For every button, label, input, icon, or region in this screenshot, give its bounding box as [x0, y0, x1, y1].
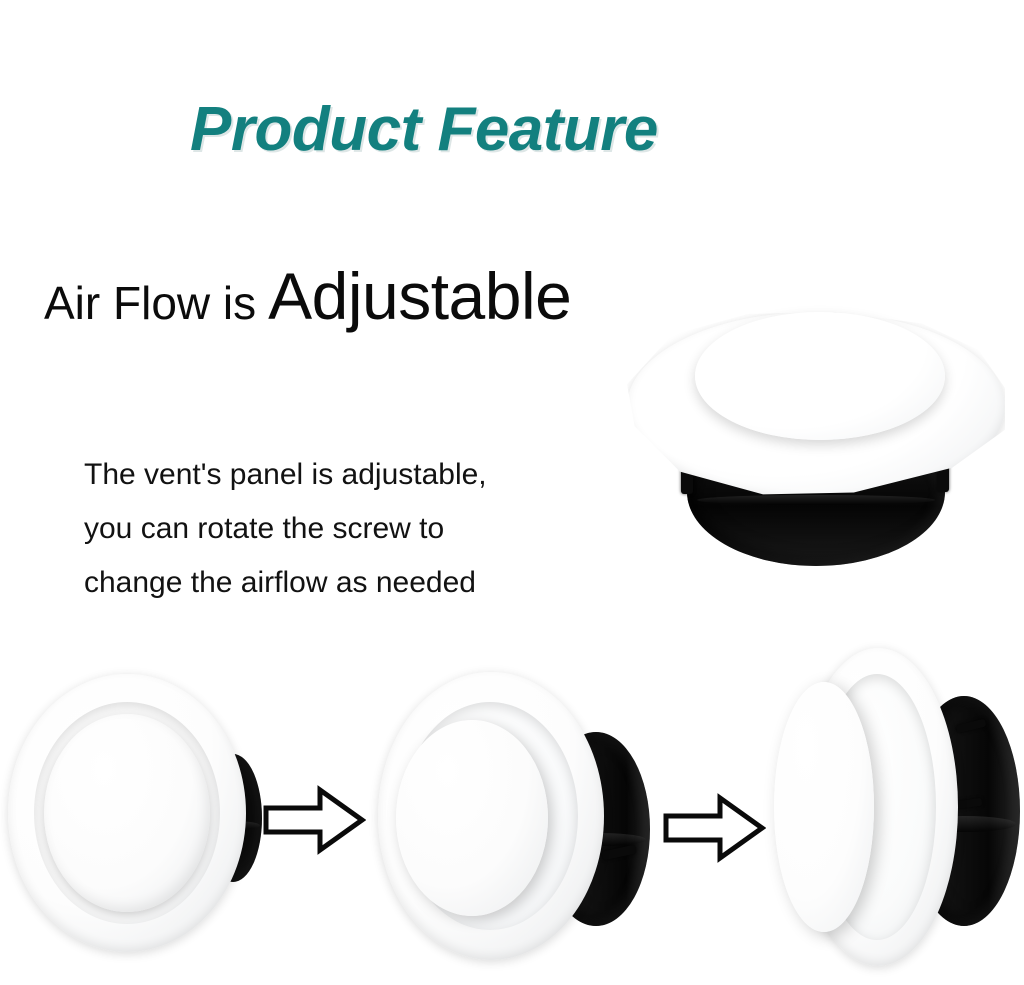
vent-fully-open: [778, 648, 1024, 968]
description-text: The vent's panel is adjustable, you can …: [84, 448, 487, 610]
step-arrow-2: [662, 790, 766, 866]
product-feature-image: Product Feature Air Flow isAdjustable Th…: [0, 0, 1024, 985]
hero-vent-photo: [615, 290, 1015, 590]
subheading: Air Flow isAdjustable: [44, 258, 571, 334]
subheading-prefix: Air Flow is: [44, 277, 256, 329]
step3-adjustable-panel: [774, 682, 874, 932]
description-line-1: The vent's panel is adjustable,: [84, 448, 487, 502]
description-line-3: change the airflow as needed: [84, 556, 487, 610]
step-arrow-1: [262, 782, 366, 858]
step1-adjustable-panel: [44, 714, 210, 912]
subheading-emphasis: Adjustable: [268, 259, 571, 333]
vent-half-open: [378, 672, 668, 962]
page-title: Product Feature: [190, 94, 658, 165]
description-line-2: you can rotate the screw to: [84, 502, 487, 556]
step2-adjustable-panel: [396, 720, 548, 916]
hero-adjustable-panel: [695, 312, 945, 440]
vent-closed: [8, 668, 268, 958]
